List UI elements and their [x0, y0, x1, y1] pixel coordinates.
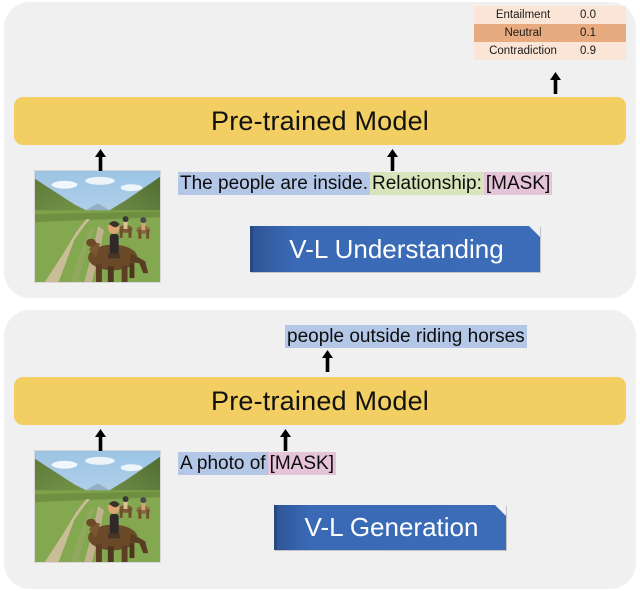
classification-score-table: Entailment 0.0 Neutral 0.1 Contradiction… — [474, 6, 626, 60]
model-bar-label: Pre-trained Model — [211, 386, 429, 417]
model-bar-label: Pre-trained Model — [211, 106, 429, 137]
input-image-thumbnail — [34, 170, 161, 283]
task-label-vl-understanding: V-L Understanding — [250, 226, 540, 272]
task-label-text: V-L Generation — [305, 512, 479, 543]
arrow-up-icon — [549, 72, 562, 94]
arrow-up-icon — [279, 429, 292, 451]
table-row: Entailment 0.0 — [474, 6, 626, 24]
input-image-thumbnail — [34, 450, 161, 563]
score-value: 0.9 — [572, 42, 626, 60]
premise-token: The people are inside. — [178, 172, 370, 195]
generated-caption-token: people outside riding horses — [285, 325, 527, 348]
arrow-up-icon — [94, 429, 107, 451]
prompt-text-line: A photo of[MASK] — [178, 452, 336, 475]
generated-caption-line: people outside riding horses — [285, 325, 527, 348]
task-label-vl-generation: V-L Generation — [274, 505, 506, 550]
prompt-token: A photo of — [178, 452, 268, 475]
score-label: Contradiction — [474, 42, 572, 60]
score-value: 0.0 — [572, 6, 626, 24]
relationship-token: Relationship: — [370, 172, 484, 195]
score-value: 0.1 — [572, 24, 626, 42]
arrow-up-icon — [94, 149, 107, 171]
mask-token: [MASK] — [484, 172, 552, 195]
premise-text-line: The people are inside.Relationship:[MASK… — [178, 172, 552, 195]
table-row: Neutral 0.1 — [474, 24, 626, 42]
task-label-text: V-L Understanding — [289, 234, 503, 265]
table-row: Contradiction 0.9 — [474, 42, 626, 60]
arrow-up-icon — [321, 350, 334, 372]
score-label: Entailment — [474, 6, 572, 24]
arrow-up-icon — [386, 149, 399, 171]
pretrained-model-bar: Pre-trained Model — [14, 97, 626, 145]
score-label: Neutral — [474, 24, 572, 42]
pretrained-model-bar: Pre-trained Model — [14, 377, 626, 425]
mask-token: [MASK] — [268, 452, 336, 475]
